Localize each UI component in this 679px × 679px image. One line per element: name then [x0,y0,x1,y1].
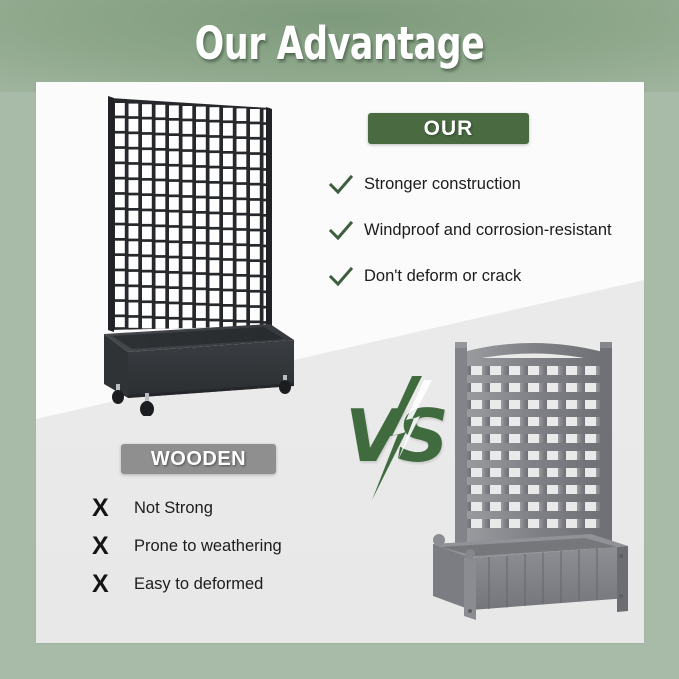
con-list-item-text: Prone to weathering [134,537,282,556]
our-badge: OUR [368,113,529,144]
con-list-item: X Prone to weathering [92,531,412,562]
page-title: Our Advantage [48,18,632,70]
con-list-item: X Easy to deformed [92,569,412,600]
pro-list-item: Windproof and corrosion-resistant [328,212,644,249]
con-list-item: X Not Strong [92,493,412,524]
our-badge-label: OUR [424,117,474,141]
wooden-trellis-planter-image [431,328,636,628]
check-icon [328,220,364,242]
check-icon [328,174,364,196]
cross-icon: X [92,572,134,597]
con-list: X Not Strong X Prone to weathering X Eas… [92,493,412,607]
pro-list: Stronger construction Windproof and corr… [328,166,644,304]
pro-list-item-text: Don't deform or crack [364,267,521,286]
wooden-badge: WOODEN [121,444,276,474]
pro-list-item-text: Stronger construction [364,175,521,194]
lightning-bolt-icon [336,376,454,500]
cross-icon: X [92,496,134,521]
cross-icon: X [92,534,134,559]
versus-mark: VS [336,384,454,488]
wooden-badge-label: WOODEN [151,448,246,471]
advantage-comparison-infographic: Our Advantage [0,0,679,679]
con-list-item-text: Easy to deformed [134,575,263,594]
check-icon [328,266,364,288]
pro-list-item: Don't deform or crack [328,258,644,295]
pro-list-item: Stronger construction [328,166,644,203]
content-panel: OUR Stronger construction Windproof and … [36,82,644,643]
con-list-item-text: Not Strong [134,499,213,518]
metal-trellis-planter-image [64,86,304,416]
pro-list-item-text: Windproof and corrosion-resistant [364,221,612,240]
